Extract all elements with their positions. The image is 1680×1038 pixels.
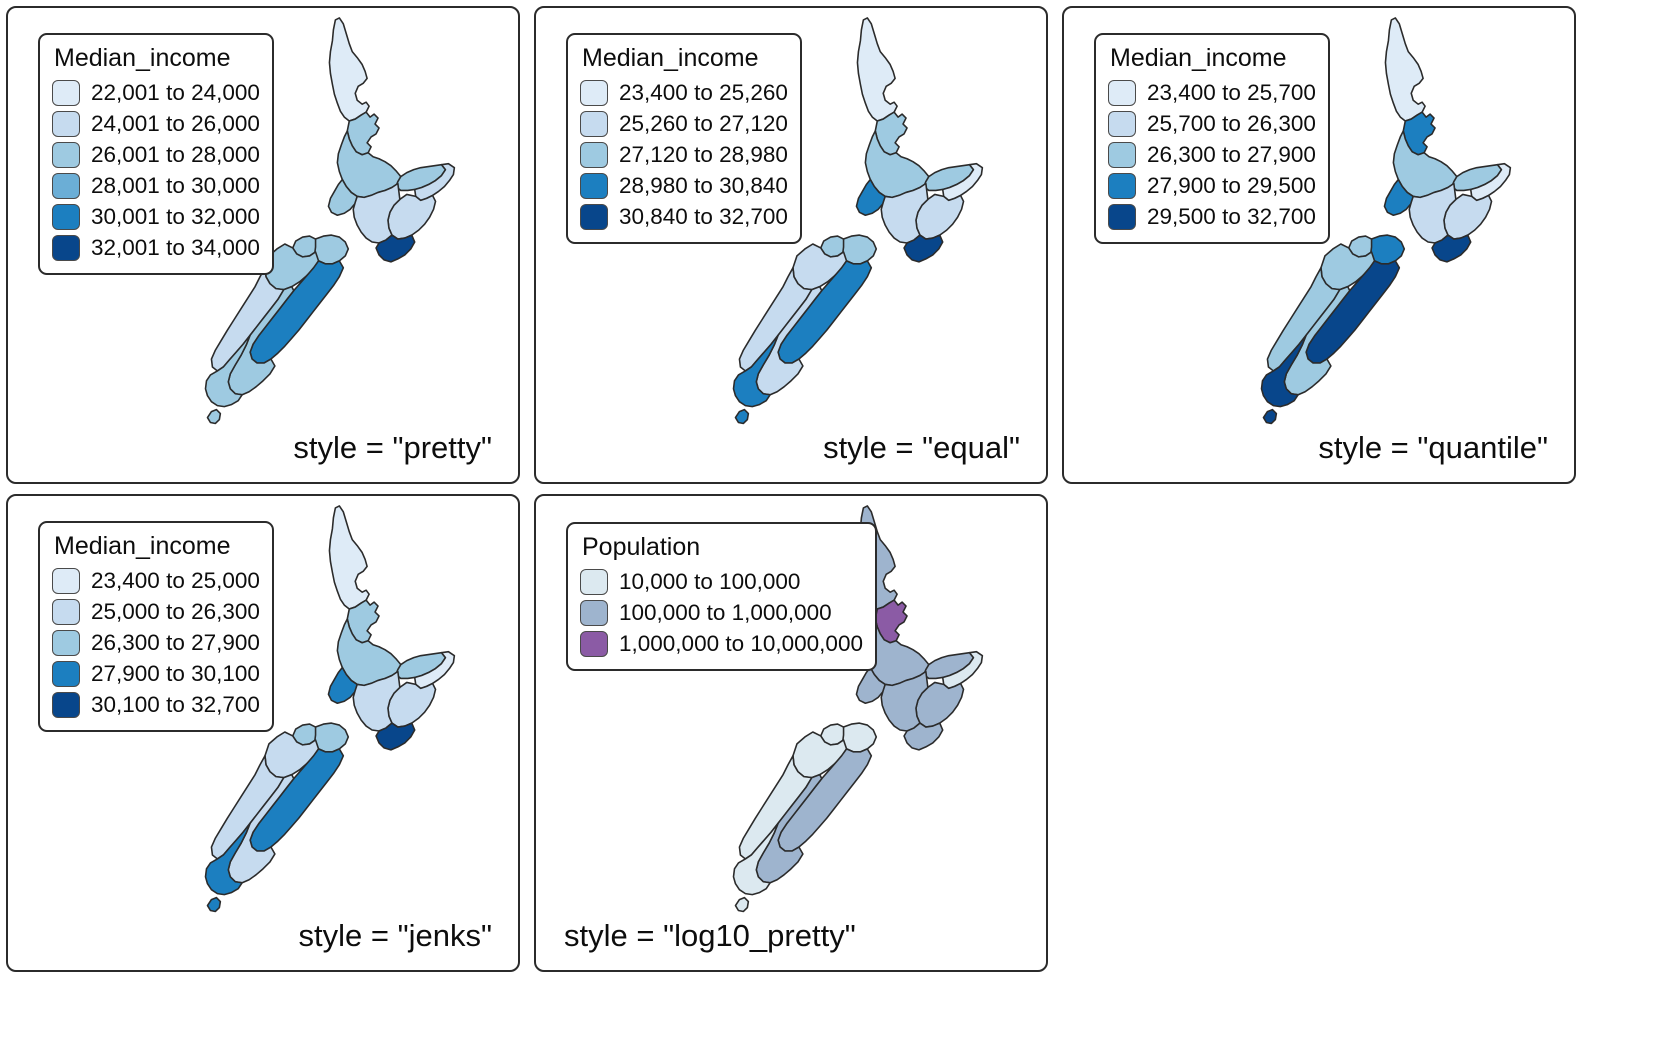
region-northland (1385, 18, 1425, 121)
region-marlborough (315, 235, 349, 264)
legend-label: 100,000 to 1,000,000 (619, 600, 832, 626)
map-panel-pretty: Median_income22,001 to 24,00024,001 to 2… (6, 6, 520, 484)
legend-label: 27,900 to 29,500 (1147, 173, 1316, 199)
legend-label: 23,400 to 25,000 (91, 568, 260, 594)
legend-swatch (52, 204, 80, 230)
legend-swatch (1108, 173, 1136, 199)
region-northland (857, 18, 897, 121)
legend-label: 30,840 to 32,700 (619, 204, 788, 230)
legend-label: 28,001 to 30,000 (91, 173, 260, 199)
legend-swatch (52, 692, 80, 718)
legend-label: 24,001 to 26,000 (91, 111, 260, 137)
legend-label: 32,001 to 34,000 (91, 235, 260, 261)
legend-item: 23,400 to 25,260 (580, 77, 788, 108)
legend-swatch (580, 600, 608, 626)
legend-item: 100,000 to 1,000,000 (580, 597, 863, 628)
legend-item: 26,001 to 28,000 (52, 139, 260, 170)
legend-swatch (1108, 111, 1136, 137)
legend-label: 30,100 to 32,700 (91, 692, 260, 718)
legend-swatch (580, 569, 608, 595)
legend-label: 22,001 to 24,000 (91, 80, 260, 106)
legend-label: 25,260 to 27,120 (619, 111, 788, 137)
legend-item: 26,300 to 27,900 (52, 627, 260, 658)
legend-label: 26,300 to 27,900 (91, 630, 260, 656)
region-northland (329, 18, 369, 121)
legend-label: 1,000,000 to 10,000,000 (619, 631, 863, 657)
legend-swatch (1108, 80, 1136, 106)
region-marlborough (843, 723, 877, 752)
region-southland (207, 898, 220, 912)
legend-swatch (580, 631, 608, 657)
legend-label: 23,400 to 25,700 (1147, 80, 1316, 106)
legend-item: 30,100 to 32,700 (52, 689, 260, 720)
legend-item: 28,001 to 30,000 (52, 170, 260, 201)
map-panel-equal: Median_income23,400 to 25,26025,260 to 2… (534, 6, 1048, 484)
legend-title: Median_income (1110, 45, 1316, 71)
legend-swatch (52, 142, 80, 168)
legend-label: 30,001 to 32,000 (91, 204, 260, 230)
legend-swatch (1108, 204, 1136, 230)
legend-item: 25,000 to 26,300 (52, 596, 260, 627)
legend-quantile: Median_income23,400 to 25,70025,700 to 2… (1094, 33, 1330, 244)
legend-swatch (580, 204, 608, 230)
legend-swatch (580, 111, 608, 137)
legend-label: 27,120 to 28,980 (619, 142, 788, 168)
legend-label: 29,500 to 32,700 (1147, 204, 1316, 230)
legend-item: 29,500 to 32,700 (1108, 201, 1316, 232)
map-panel-jenks: Median_income23,400 to 25,00025,000 to 2… (6, 494, 520, 972)
legend-item: 27,900 to 29,500 (1108, 170, 1316, 201)
legend-title: Median_income (54, 45, 260, 71)
legend-swatch (580, 173, 608, 199)
legend-item: 22,001 to 24,000 (52, 77, 260, 108)
legend-swatch (52, 111, 80, 137)
region-southland (207, 410, 220, 424)
legend-item: 23,400 to 25,000 (52, 565, 260, 596)
legend-swatch (52, 235, 80, 261)
map-grid: Median_income22,001 to 24,00024,001 to 2… (0, 0, 1680, 972)
legend-swatch (52, 568, 80, 594)
legend-item: 30,840 to 32,700 (580, 201, 788, 232)
legend-label: 23,400 to 25,260 (619, 80, 788, 106)
legend-item: 28,980 to 30,840 (580, 170, 788, 201)
legend-item: 24,001 to 26,000 (52, 108, 260, 139)
legend-label: 26,001 to 28,000 (91, 142, 260, 168)
legend-item: 30,001 to 32,000 (52, 201, 260, 232)
region-southland (735, 410, 748, 424)
legend-title: Median_income (582, 45, 788, 71)
legend-label: 10,000 to 100,000 (619, 569, 800, 595)
legend-pretty: Median_income22,001 to 24,00024,001 to 2… (38, 33, 274, 275)
map-panel-log10_pretty: Population10,000 to 100,000100,000 to 1,… (534, 494, 1048, 972)
legend-log10_pretty: Population10,000 to 100,000100,000 to 1,… (566, 522, 877, 671)
legend-item: 25,700 to 26,300 (1108, 108, 1316, 139)
legend-item: 27,900 to 30,100 (52, 658, 260, 689)
legend-equal: Median_income23,400 to 25,26025,260 to 2… (566, 33, 802, 244)
legend-label: 28,980 to 30,840 (619, 173, 788, 199)
panel-caption: style = "pretty" (293, 430, 492, 466)
legend-swatch (580, 142, 608, 168)
legend-item: 1,000,000 to 10,000,000 (580, 628, 863, 659)
legend-label: 26,300 to 27,900 (1147, 142, 1316, 168)
empty-grid-cell (1062, 494, 1576, 972)
legend-title: Population (582, 534, 863, 560)
legend-label: 25,700 to 26,300 (1147, 111, 1316, 137)
panel-caption: style = "equal" (823, 430, 1020, 466)
legend-label: 27,900 to 30,100 (91, 661, 260, 687)
legend-jenks: Median_income23,400 to 25,00025,000 to 2… (38, 521, 274, 732)
legend-swatch (52, 630, 80, 656)
legend-swatch (580, 80, 608, 106)
legend-swatch (52, 173, 80, 199)
legend-title: Median_income (54, 533, 260, 559)
legend-item: 26,300 to 27,900 (1108, 139, 1316, 170)
panel-caption: style = "log10_pretty" (564, 918, 856, 954)
legend-swatch (52, 661, 80, 687)
legend-swatch (1108, 142, 1136, 168)
region-marlborough (843, 235, 877, 264)
legend-item: 10,000 to 100,000 (580, 566, 863, 597)
region-marlborough (1371, 235, 1405, 264)
legend-swatch (52, 80, 80, 106)
region-southland (735, 898, 748, 912)
region-southland (1263, 410, 1276, 424)
region-marlborough (315, 723, 349, 752)
legend-item: 23,400 to 25,700 (1108, 77, 1316, 108)
legend-item: 27,120 to 28,980 (580, 139, 788, 170)
region-northland (329, 506, 369, 609)
legend-item: 25,260 to 27,120 (580, 108, 788, 139)
legend-swatch (52, 599, 80, 625)
legend-item: 32,001 to 34,000 (52, 232, 260, 263)
panel-caption: style = "jenks" (299, 918, 492, 954)
legend-label: 25,000 to 26,300 (91, 599, 260, 625)
panel-caption: style = "quantile" (1318, 430, 1548, 466)
map-panel-quantile: Median_income23,400 to 25,70025,700 to 2… (1062, 6, 1576, 484)
